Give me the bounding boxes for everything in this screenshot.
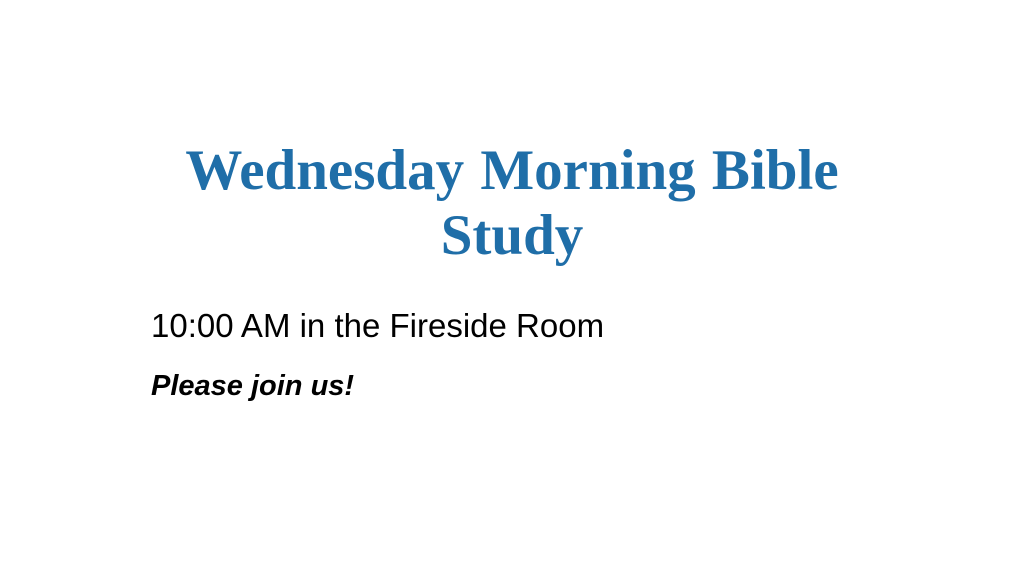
- slide-canvas: Wednesday Morning Bible Study 10:00 AM i…: [0, 0, 1024, 576]
- slide-title-block: Wednesday Morning Bible Study: [128, 138, 896, 268]
- invitation-text: Please join us!: [151, 356, 891, 416]
- event-time-location-text: 10:00 AM in the Fireside Room: [151, 296, 891, 356]
- slide-body-block: 10:00 AM in the Fireside Room Please joi…: [151, 296, 891, 416]
- page-title: Wednesday Morning Bible Study: [128, 138, 896, 268]
